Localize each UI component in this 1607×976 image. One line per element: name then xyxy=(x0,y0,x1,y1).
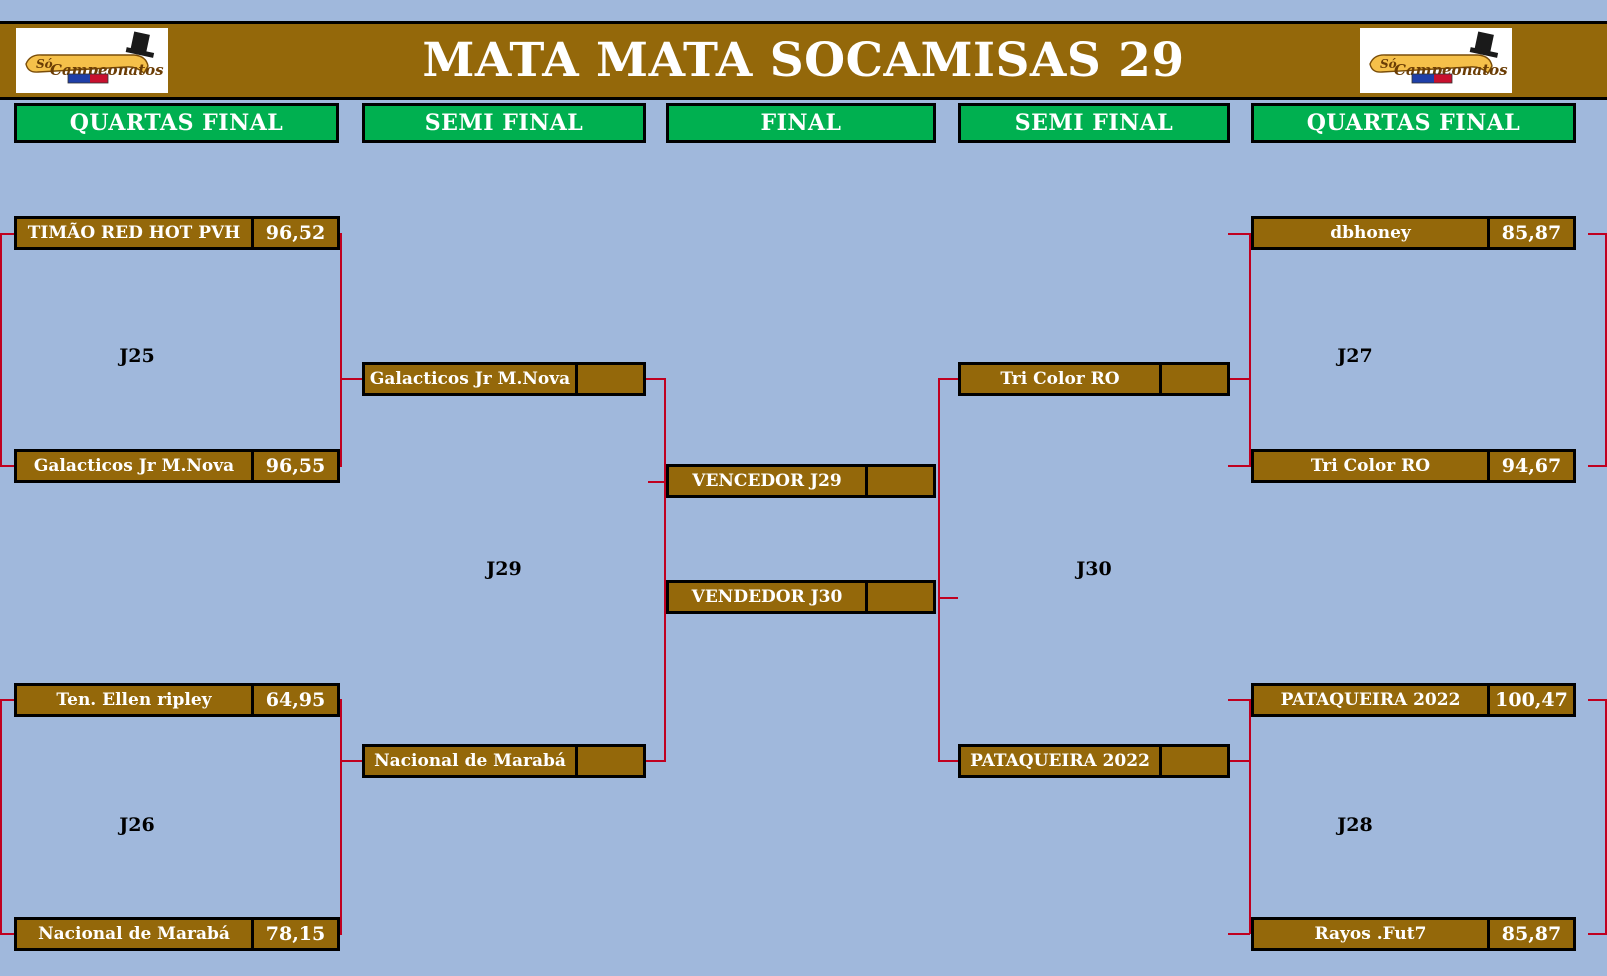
logo-right: Só Campeonatos xyxy=(1360,28,1512,93)
bracket-page: MATA MATA SOCAMISAS 29 Só Campeonatos Só… xyxy=(0,0,1607,976)
match-slot-j26-team2[interactable]: Nacional de Marabá 78,15 xyxy=(14,917,340,951)
connector-j27-to-semi xyxy=(1228,378,1250,380)
game-id-j26: J26 xyxy=(14,814,260,836)
connector-semi-left-bottom-out xyxy=(644,760,666,762)
logo-left: Só Campeonatos xyxy=(16,28,168,93)
match-slot-j28-team1[interactable]: PATAQUEIRA 2022 100,47 xyxy=(1251,683,1576,717)
connector-j30-spine xyxy=(938,378,940,762)
connector-j28-right-top xyxy=(1588,699,1607,701)
team-score xyxy=(865,467,933,495)
connector-j28-right-bot xyxy=(1588,933,1607,935)
team-score: 94,67 xyxy=(1487,452,1573,480)
team-score: 96,55 xyxy=(251,452,337,480)
connector-j26-left-spine xyxy=(0,699,2,934)
round-header-quartas-right: QUARTAS FINAL xyxy=(1251,103,1576,143)
team-score: 96,52 xyxy=(251,219,337,247)
round-header-semi-left: SEMI FINAL xyxy=(362,103,646,143)
team-name: Galacticos Jr M.Nova xyxy=(17,452,251,480)
team-name: Nacional de Marabá xyxy=(365,747,575,775)
connector-j28-out-bottom xyxy=(1228,933,1250,935)
connector-j27-left-spine xyxy=(1249,233,1251,467)
connector-j27-right-bot xyxy=(1588,465,1607,467)
so-campeonatos-logo-icon: Só Campeonatos xyxy=(1360,28,1512,93)
connector-j28-to-semi xyxy=(1228,760,1250,762)
team-name: PATAQUEIRA 2022 xyxy=(961,747,1159,775)
team-score xyxy=(575,365,643,393)
connector-j27-out-top xyxy=(1228,233,1250,235)
team-score: 85,87 xyxy=(1487,219,1573,247)
connector-j25-right-spine xyxy=(340,233,342,467)
team-score xyxy=(865,583,933,611)
team-name: PATAQUEIRA 2022 xyxy=(1254,686,1487,714)
connector-j26-to-semi xyxy=(340,760,364,762)
team-name: Tri Color RO xyxy=(1254,452,1487,480)
game-id-j29: J29 xyxy=(362,558,646,580)
match-slot-j28-team2[interactable]: Rayos .Fut7 85,87 xyxy=(1251,917,1576,951)
game-id-j27: J27 xyxy=(1251,345,1459,367)
match-slot-j25-team2[interactable]: Galacticos Jr M.Nova 96,55 xyxy=(14,449,340,483)
team-score: 100,47 xyxy=(1487,686,1573,714)
team-name: Galacticos Jr M.Nova xyxy=(365,365,575,393)
connector-j28-left-spine xyxy=(1249,699,1251,934)
match-slot-semi-left-bottom[interactable]: Nacional de Marabá xyxy=(362,744,646,778)
connector-j27-right-top xyxy=(1588,233,1607,235)
team-name: Tri Color RO xyxy=(961,365,1159,393)
team-name: TIMÃO RED HOT PVH xyxy=(17,219,251,247)
team-score: 64,95 xyxy=(251,686,337,714)
match-slot-final-bottom[interactable]: VENDEDOR J30 xyxy=(666,580,936,614)
round-header-semi-right: SEMI FINAL xyxy=(958,103,1230,143)
so-campeonatos-logo-icon: Só Campeonatos xyxy=(16,28,168,93)
match-slot-semi-left-top[interactable]: Galacticos Jr M.Nova xyxy=(362,362,646,396)
match-slot-j27-team2[interactable]: Tri Color RO 94,67 xyxy=(1251,449,1576,483)
team-name: Nacional de Marabá xyxy=(17,920,251,948)
connector-j25-left-spine xyxy=(0,233,2,467)
connector-j25-to-semi xyxy=(340,378,364,380)
game-id-j30: J30 xyxy=(958,558,1230,580)
connector-j28-out-top xyxy=(1228,699,1250,701)
team-name: dbhoney xyxy=(1254,219,1487,247)
game-id-j25: J25 xyxy=(14,345,260,367)
team-name: Rayos .Fut7 xyxy=(1254,920,1487,948)
round-header-quartas-left: QUARTAS FINAL xyxy=(14,103,339,143)
match-slot-semi-right-bottom[interactable]: PATAQUEIRA 2022 xyxy=(958,744,1230,778)
connector-semi-right-bottom-out xyxy=(938,760,960,762)
team-name: Ten. Ellen ripley xyxy=(17,686,251,714)
connector-j29-to-final xyxy=(648,481,668,483)
connector-semi-left-top-out xyxy=(644,378,666,380)
match-slot-semi-right-top[interactable]: Tri Color RO xyxy=(958,362,1230,396)
connector-j27-out-bottom xyxy=(1228,465,1250,467)
team-score xyxy=(1159,365,1227,393)
match-slot-final-top[interactable]: VENCEDOR J29 xyxy=(666,464,936,498)
match-slot-j26-team1[interactable]: Ten. Ellen ripley 64,95 xyxy=(14,683,340,717)
connector-j29-spine xyxy=(664,378,666,762)
team-score xyxy=(575,747,643,775)
connector-j30-to-final xyxy=(938,597,958,599)
connector-semi-right-top-out xyxy=(938,378,960,380)
match-slot-j27-team1[interactable]: dbhoney 85,87 xyxy=(1251,216,1576,250)
team-score xyxy=(1159,747,1227,775)
connector-j26-right-spine xyxy=(340,699,342,934)
game-id-j28: J28 xyxy=(1251,814,1459,836)
team-score: 78,15 xyxy=(251,920,337,948)
team-name: VENCEDOR J29 xyxy=(669,467,865,495)
round-header-final: FINAL xyxy=(666,103,936,143)
team-name: VENDEDOR J30 xyxy=(669,583,865,611)
match-slot-j25-team1[interactable]: TIMÃO RED HOT PVH 96,52 xyxy=(14,216,340,250)
team-score: 85,87 xyxy=(1487,920,1573,948)
page-title: MATA MATA SOCAMISAS 29 xyxy=(180,24,1427,97)
